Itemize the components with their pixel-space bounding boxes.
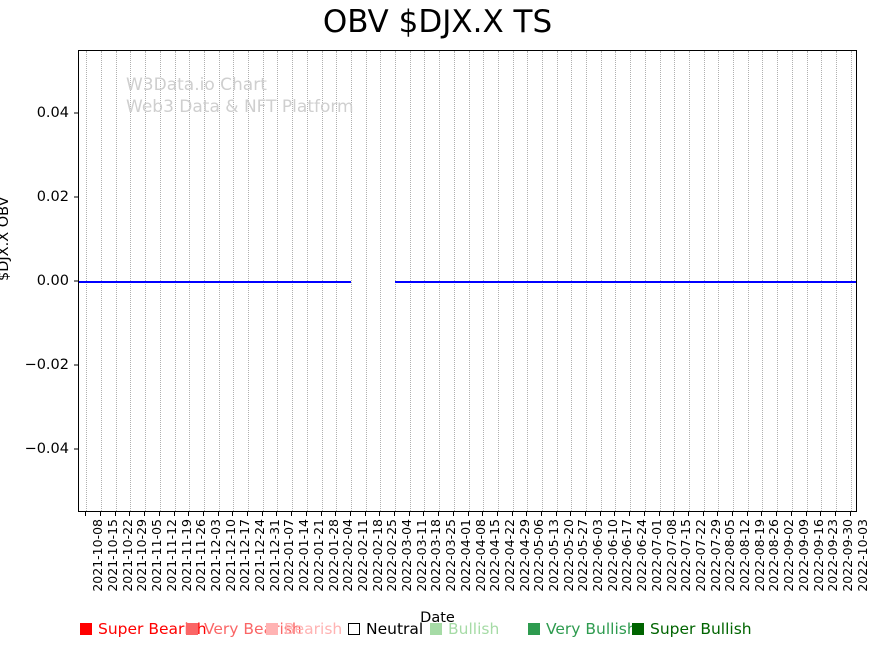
x-tick-label: 2022-09-02 — [781, 519, 796, 592]
legend-label: Very Bullish — [546, 620, 637, 638]
x-tick-label: 2022-01-21 — [311, 519, 326, 592]
x-tick-mark — [820, 512, 821, 516]
sentiment-legend: Super BearishVery BearishBearishNeutralB… — [0, 620, 875, 642]
x-tick-mark — [791, 512, 792, 516]
legend-item-very-bullish[interactable]: Very Bullish — [528, 620, 637, 638]
x-tick-mark — [585, 512, 586, 516]
x-tick-mark — [526, 512, 527, 516]
x-tick-label: 2022-03-04 — [399, 519, 414, 592]
x-tick-label: 2021-11-19 — [179, 519, 194, 592]
x-tick-label: 2022-04-08 — [473, 519, 488, 592]
x-tick-label: 2022-07-08 — [664, 519, 679, 592]
x-tick-mark — [350, 512, 351, 516]
x-tick-mark — [673, 512, 674, 516]
x-tick-label: 2022-07-22 — [693, 519, 708, 592]
x-tick-label: 2022-05-06 — [531, 519, 546, 592]
y-tick-label: 0.04 — [0, 105, 69, 121]
legend-item-bullish[interactable]: Bullish — [430, 620, 499, 638]
x-tick-mark — [570, 512, 571, 516]
x-tick-label: 2022-04-22 — [502, 519, 517, 592]
x-tick-label: 2022-09-16 — [811, 519, 826, 592]
x-tick-mark — [218, 512, 219, 516]
x-tick-label: 2022-05-27 — [575, 519, 590, 592]
x-tick-label: 2022-04-15 — [487, 519, 502, 592]
x-tick-mark — [717, 512, 718, 516]
x-tick-mark — [747, 512, 748, 516]
x-tick-mark — [468, 512, 469, 516]
x-tick-label: 2021-10-29 — [134, 519, 149, 592]
legend-swatch-icon — [348, 623, 360, 635]
x-tick-label: 2022-09-09 — [796, 519, 811, 592]
x-tick-mark — [761, 512, 762, 516]
x-tick-mark — [115, 512, 116, 516]
legend-swatch-icon — [528, 623, 540, 635]
x-tick-mark — [806, 512, 807, 516]
x-tick-label: 2022-10-03 — [855, 519, 870, 592]
x-tick-label: 2021-11-12 — [164, 519, 179, 592]
y-tick-mark — [74, 113, 78, 114]
y-tick-mark — [74, 449, 78, 450]
x-tick-mark — [600, 512, 601, 516]
x-tick-label: 2022-03-25 — [443, 519, 458, 592]
x-tick-label: 2021-10-08 — [90, 519, 105, 592]
legend-swatch-icon — [430, 623, 442, 635]
x-tick-mark — [174, 512, 175, 516]
legend-item-neutral[interactable]: Neutral — [348, 620, 423, 638]
y-tick-label: −0.04 — [0, 441, 69, 457]
x-tick-label: 2022-04-01 — [458, 519, 473, 592]
y-axis-label: $DJX.X OBV — [0, 196, 12, 281]
x-tick-label: 2021-11-05 — [149, 519, 164, 592]
x-tick-label: 2021-10-15 — [105, 519, 120, 592]
legend-item-super-bullish[interactable]: Super Bullish — [632, 620, 752, 638]
x-tick-mark — [144, 512, 145, 516]
x-tick-label: 2022-08-26 — [766, 519, 781, 592]
x-tick-mark — [188, 512, 189, 516]
x-tick-label: 2022-08-12 — [737, 519, 752, 592]
legend-swatch-icon — [632, 623, 644, 635]
x-tick-mark — [423, 512, 424, 516]
x-tick-label: 2022-08-19 — [752, 519, 767, 592]
legend-swatch-icon — [186, 623, 198, 635]
x-tick-mark — [453, 512, 454, 516]
x-tick-label: 2022-06-17 — [619, 519, 634, 592]
x-tick-label: 2022-04-29 — [517, 519, 532, 592]
obv-time-series-chart: OBV $DJX.X TS 2022-10-03 $DJX.X OBV: 0.0… — [0, 0, 875, 646]
legend-label: Bullish — [448, 620, 499, 638]
x-tick-mark — [394, 512, 395, 516]
x-tick-mark — [541, 512, 542, 516]
gridline — [366, 51, 367, 511]
x-tick-label: 2022-05-13 — [546, 519, 561, 592]
x-tick-mark — [835, 512, 836, 516]
data-line-segment — [79, 281, 351, 283]
x-tick-mark — [732, 512, 733, 516]
x-tick-mark — [629, 512, 630, 516]
x-tick-mark — [409, 512, 410, 516]
x-tick-mark — [512, 512, 513, 516]
y-tick-label: −0.02 — [0, 357, 69, 373]
x-tick-label: 2022-08-05 — [722, 519, 737, 592]
x-tick-mark — [379, 512, 380, 516]
x-tick-mark — [688, 512, 689, 516]
x-tick-label: 2022-06-24 — [634, 519, 649, 592]
x-tick-mark — [556, 512, 557, 516]
x-tick-label: 2022-02-18 — [370, 519, 385, 592]
x-tick-label: 2022-03-18 — [428, 519, 443, 592]
x-tick-label: 2022-07-01 — [649, 519, 664, 592]
y-tick-mark — [74, 281, 78, 282]
x-tick-label: 2022-05-20 — [561, 519, 576, 592]
x-tick-label: 2022-01-14 — [296, 519, 311, 592]
x-tick-mark — [365, 512, 366, 516]
y-tick-mark — [74, 365, 78, 366]
x-tick-label: 2021-12-17 — [237, 519, 252, 592]
x-tick-mark — [306, 512, 307, 516]
y-tick-mark — [74, 197, 78, 198]
legend-item-bearish[interactable]: Bearish — [266, 620, 342, 638]
x-tick-mark — [321, 512, 322, 516]
x-tick-label: 2021-12-31 — [267, 519, 282, 592]
x-tick-label: 2022-01-07 — [281, 519, 296, 592]
x-tick-mark — [335, 512, 336, 516]
x-tick-mark — [159, 512, 160, 516]
gridline — [351, 51, 352, 511]
x-tick-label: 2021-11-26 — [193, 519, 208, 592]
x-tick-label: 2022-09-23 — [825, 519, 840, 592]
legend-swatch-icon — [80, 623, 92, 635]
x-tick-label: 2022-09-30 — [840, 519, 855, 592]
x-tick-label: 2022-07-29 — [708, 519, 723, 592]
legend-label: Bearish — [284, 620, 342, 638]
x-tick-label: 2022-02-11 — [355, 519, 370, 592]
x-tick-mark — [850, 512, 851, 516]
x-tick-label: 2021-10-22 — [120, 519, 135, 592]
x-tick-mark — [262, 512, 263, 516]
x-tick-mark — [497, 512, 498, 516]
gridline — [380, 51, 381, 511]
chart-title: OBV $DJX.X TS — [0, 4, 875, 40]
x-tick-label: 2022-06-03 — [590, 519, 605, 592]
x-tick-mark — [703, 512, 704, 516]
x-tick-mark — [247, 512, 248, 516]
x-tick-label: 2022-02-04 — [340, 519, 355, 592]
x-tick-mark — [100, 512, 101, 516]
x-tick-mark — [776, 512, 777, 516]
x-tick-mark — [232, 512, 233, 516]
x-tick-label: 2022-01-28 — [326, 519, 341, 592]
legend-label: Neutral — [366, 620, 423, 638]
x-tick-mark — [482, 512, 483, 516]
x-tick-mark — [614, 512, 615, 516]
x-tick-label: 2022-02-25 — [384, 519, 399, 592]
x-tick-label: 2021-12-03 — [208, 519, 223, 592]
x-tick-label: 2021-12-24 — [252, 519, 267, 592]
x-tick-mark — [85, 512, 86, 516]
x-tick-mark — [438, 512, 439, 516]
plot-area: W3Data.io Chart Web3 Data & NFT Platform — [78, 50, 857, 512]
x-tick-mark — [203, 512, 204, 516]
x-tick-mark — [291, 512, 292, 516]
x-tick-mark — [659, 512, 660, 516]
data-line-segment — [395, 281, 857, 283]
x-tick-mark — [129, 512, 130, 516]
x-tick-mark — [276, 512, 277, 516]
x-tick-label: 2022-03-11 — [414, 519, 429, 592]
x-tick-mark — [644, 512, 645, 516]
x-tick-label: 2022-07-15 — [678, 519, 693, 592]
x-tick-label: 2022-06-10 — [605, 519, 620, 592]
legend-swatch-icon — [266, 623, 278, 635]
x-tick-label: 2021-12-10 — [223, 519, 238, 592]
legend-label: Super Bullish — [650, 620, 752, 638]
